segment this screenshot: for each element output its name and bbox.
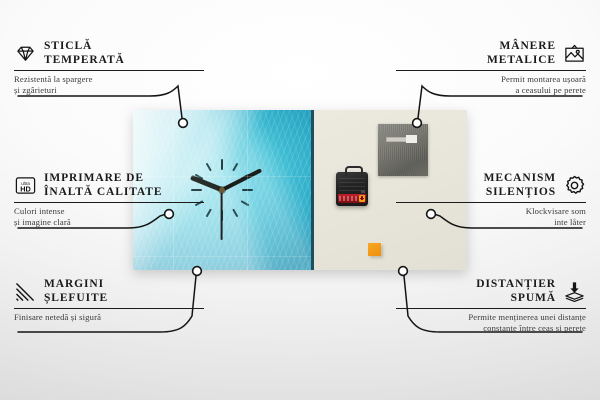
callout-sub-line1: Permite menținerea unei distanțe — [468, 312, 586, 322]
callout-metal-handles: MÂNERE METALICE Permit montarea ușoară a… — [396, 40, 586, 95]
callout-header: ultra HD IMPRIMARE DE ÎNALTĂ CALITATE — [14, 172, 204, 199]
callout-title-line2: TEMPERATĂ — [44, 54, 125, 66]
callout-print-quality: ultra HD IMPRIMARE DE ÎNALTĂ CALITATE Cu… — [14, 172, 204, 227]
svg-text:HD: HD — [20, 184, 31, 193]
callout-title: MECANISM SILENȚIOS — [484, 172, 556, 199]
callout-tempered-glass: STICLĂ TEMPERATĂ Rezistentă la spargere … — [14, 40, 204, 95]
callout-sub-line2: a ceasului pe perete — [515, 85, 586, 95]
callout-title-line2: SILENȚIOS — [486, 186, 556, 198]
mechanism-dial — [361, 190, 365, 193]
infographic-stage: STICLĂ TEMPERATĂ Rezistentă la spargere … — [0, 0, 600, 400]
callout-divider — [396, 202, 586, 203]
callout-title: MÂNERE METALICE — [487, 40, 556, 67]
callout-title-line2: METALICE — [487, 54, 556, 66]
quartz-mechanism — [336, 172, 368, 206]
callout-subtitle: Permite menținerea unei distanțe constan… — [396, 312, 586, 333]
callout-title-line2: ȘLEFUITE — [44, 292, 108, 304]
callout-subtitle: Culori intense și imagine clară — [14, 206, 204, 227]
callout-divider — [14, 308, 204, 309]
callout-divider — [14, 70, 204, 71]
callout-title: IMPRIMARE DE ÎNALTĂ CALITATE — [44, 172, 162, 199]
callout-header: MÂNERE METALICE — [396, 40, 586, 67]
callout-sub-line1: Rezistentă la spargere — [14, 74, 93, 84]
arrow-down-layers-icon — [563, 280, 586, 303]
callout-sub-line1: Finisare netedă și sigură — [14, 312, 101, 322]
callout-sub-line2: constante între ceas și perete — [483, 323, 586, 333]
picture-frame-hanger-icon — [563, 42, 586, 65]
callout-subtitle: Finisare netedă și sigură — [14, 312, 204, 322]
callout-sub-line2: și imagine clară — [14, 217, 71, 227]
battery-label — [339, 196, 360, 201]
callout-header: STICLĂ TEMPERATĂ — [14, 40, 204, 67]
callout-title: DISTANȚIER SPUMĂ — [476, 278, 556, 305]
callout-title: STICLĂ TEMPERATĂ — [44, 40, 125, 67]
callout-subtitle: Rezistentă la spargere și zgârieturi — [14, 74, 204, 95]
callout-title-line2: SPUMĂ — [511, 292, 556, 304]
callout-subtitle: Klockvisare som inte låter — [396, 206, 586, 227]
callout-title: MARGINI ȘLEFUITE — [44, 278, 108, 305]
mechanism-hook — [345, 166, 363, 176]
polished-edge-icon — [14, 280, 37, 303]
battery — [338, 194, 366, 203]
gear-icon — [563, 174, 586, 197]
callout-sub-line1: Klockvisare som — [526, 206, 586, 216]
callout-title-line1: STICLĂ — [44, 40, 92, 52]
callout-sub-line2: și zgârieturi — [14, 85, 57, 95]
ultra-hd-icon: ultra HD — [14, 174, 37, 197]
callout-title-line1: DISTANȚIER — [476, 278, 556, 290]
metal-hanger-plate — [378, 124, 428, 176]
diamond-icon — [14, 42, 37, 65]
callout-header: MARGINI ȘLEFUITE — [14, 278, 204, 305]
callout-header: MECANISM SILENȚIOS — [396, 172, 586, 199]
callout-title-line1: MARGINI — [44, 278, 104, 290]
battery-positive-terminal — [359, 195, 365, 202]
callout-subtitle: Permit montarea ușoară a ceasului pe per… — [396, 74, 586, 95]
callout-title-line1: MÂNERE — [499, 40, 556, 52]
callout-silent-mechanism: MECANISM SILENȚIOS Klockvisare som inte … — [396, 172, 586, 227]
hanger-slot-highlight — [406, 135, 417, 143]
callout-sub-line1: Permit montarea ușoară — [501, 74, 586, 84]
callout-sub-line1: Culori intense — [14, 206, 65, 216]
clock-second-hand — [221, 190, 223, 240]
callout-polished-edges: MARGINI ȘLEFUITE Finisare netedă și sigu… — [14, 278, 204, 323]
callout-divider — [396, 308, 586, 309]
callout-foam-spacer: DISTANȚIER SPUMĂ Permite menținerea unei… — [396, 278, 586, 333]
callout-title-line1: MECANISM — [484, 172, 556, 184]
callout-divider — [396, 70, 586, 71]
callout-divider — [14, 202, 204, 203]
callout-title-line1: IMPRIMARE DE — [44, 172, 144, 184]
callout-title-line2: ÎNALTĂ CALITATE — [44, 186, 162, 198]
foam-spacer — [368, 243, 381, 256]
callout-header: DISTANȚIER SPUMĂ — [396, 278, 586, 305]
clock-center-hub — [219, 187, 225, 193]
callout-sub-line2: inte låter — [554, 217, 586, 227]
